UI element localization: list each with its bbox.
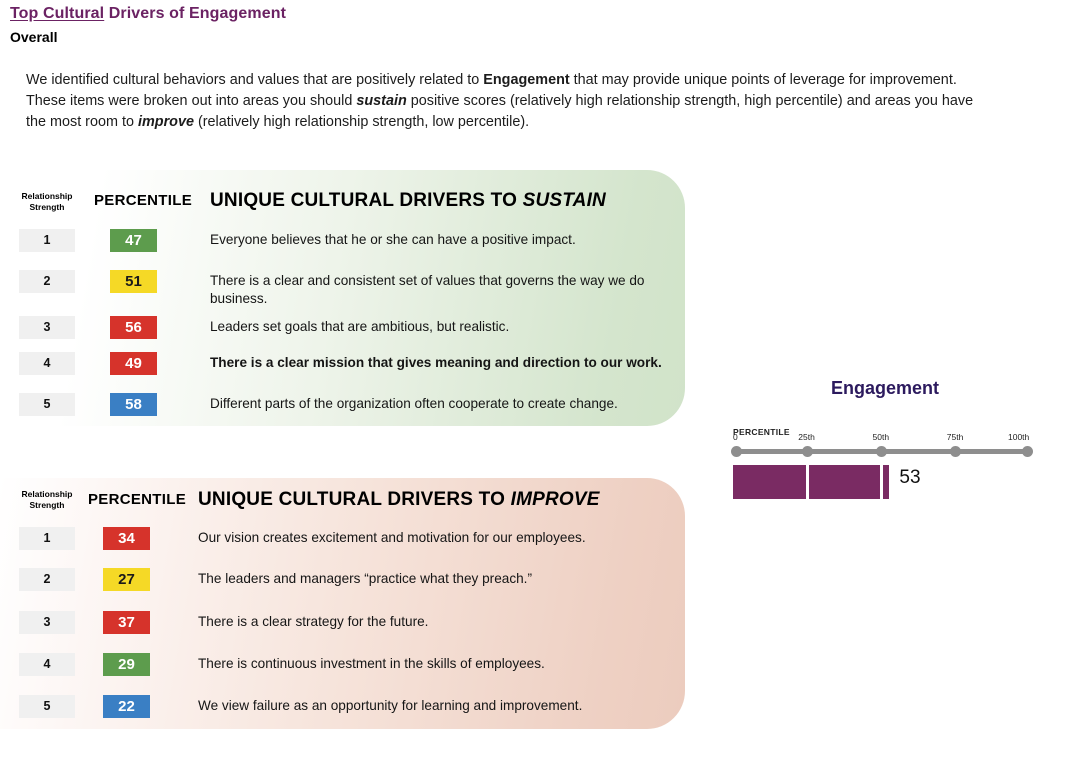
relationship-strength-rank: 2 — [19, 568, 75, 591]
driver-item-text: Everyone believes that he or she can hav… — [210, 231, 670, 249]
driver-item-text: There is a clear strategy for the future… — [198, 613, 658, 631]
page-title: Top Cultural Drivers of Engagement — [10, 5, 286, 23]
table-row: 449There is a clear mission that gives m… — [0, 352, 685, 376]
percentile-badge: 27 — [103, 568, 150, 591]
relationship-strength-rank: 1 — [19, 229, 75, 252]
page-title-rest: Drivers of Engagement — [104, 5, 286, 22]
relationship-strength-rank: 3 — [19, 316, 75, 339]
percentile-badge: 47 — [110, 229, 157, 252]
improve-column-header-relationship-strength: Relationship Strength — [5, 489, 89, 511]
gauge-bar-track — [733, 465, 1030, 499]
relationship-strength-rank: 1 — [19, 527, 75, 550]
percentile-badge: 22 — [103, 695, 150, 718]
intro-text-4: (relatively high relationship strength, … — [194, 114, 529, 130]
sustain-column-header-relationship-strength: Relationship Strength — [5, 191, 89, 213]
axis-tick-dot — [1022, 446, 1033, 457]
relationship-strength-rank: 2 — [19, 270, 75, 293]
table-row: 558Different parts of the organization o… — [0, 393, 685, 417]
gauge-bar-segment — [733, 465, 806, 499]
relationship-strength-rank: 4 — [19, 352, 75, 375]
driver-item-text: Different parts of the organization ofte… — [210, 395, 670, 413]
intro-text-1: We identified cultural behaviors and val… — [26, 72, 483, 88]
table-row: 522We view failure as an opportunity for… — [0, 695, 685, 719]
relationship-strength-rank: 4 — [19, 653, 75, 676]
driver-item-text: The leaders and managers “practice what … — [198, 570, 658, 588]
sustain-column-header-percentile: PERCENTILE — [94, 192, 192, 209]
axis-tick-dot — [802, 446, 813, 457]
table-row: 251There is a clear and consistent set o… — [0, 270, 685, 294]
rs-label-line2: Strength — [5, 202, 89, 213]
engagement-gauge: Engagement PERCENTILE 025th50th75th100th… — [725, 378, 1055, 498]
axis-tick-dot — [950, 446, 961, 457]
axis-tick-label: 25th — [798, 432, 815, 442]
table-row: 429There is continuous investment in the… — [0, 653, 685, 677]
intro-italic-improve: improve — [138, 114, 194, 130]
sustain-heading-prefix: UNIQUE CULTURAL DRIVERS TO — [210, 190, 523, 211]
page-title-underlined: Top Cultural — [10, 5, 104, 22]
axis-tick-label: 50th — [873, 432, 890, 442]
improve-heading-prefix: UNIQUE CULTURAL DRIVERS TO — [198, 489, 511, 510]
driver-item-text: Our vision creates excitement and motiva… — [198, 529, 658, 547]
percentile-badge: 56 — [110, 316, 157, 339]
percentile-badge: 34 — [103, 527, 150, 550]
driver-item-text: There is a clear and consistent set of v… — [210, 272, 670, 308]
table-row: 134Our vision creates excitement and mot… — [0, 527, 685, 551]
gauge-title: Engagement — [725, 378, 1045, 399]
improve-panel-heading: UNIQUE CULTURAL DRIVERS TO IMPROVE — [198, 489, 600, 511]
improve-panel — [0, 478, 685, 729]
sustain-heading-emphasis: SUSTAIN — [523, 190, 606, 211]
driver-item-text: There is a clear mission that gives mean… — [210, 354, 670, 372]
relationship-strength-rank: 5 — [19, 695, 75, 718]
intro-bold-engagement: Engagement — [483, 72, 569, 88]
table-row: 356Leaders set goals that are ambitious,… — [0, 316, 685, 340]
intro-italic-sustain: sustain — [356, 93, 406, 109]
improve-heading-emphasis: IMPROVE — [511, 489, 600, 510]
axis-tick-label: 75th — [947, 432, 964, 442]
percentile-badge: 49 — [110, 352, 157, 375]
percentile-badge: 29 — [103, 653, 150, 676]
gauge-percentile-label: PERCENTILE — [733, 427, 790, 437]
axis-tick-dot — [876, 446, 887, 457]
rs-label-line2-improve: Strength — [5, 500, 89, 511]
gauge-bar-segment — [809, 465, 880, 499]
axis-tick-dot — [731, 446, 742, 457]
relationship-strength-rank: 3 — [19, 611, 75, 634]
relationship-strength-rank: 5 — [19, 393, 75, 416]
gauge-value-label: 53 — [899, 467, 920, 489]
driver-item-text: Leaders set goals that are ambitious, bu… — [210, 318, 670, 336]
table-row: 227The leaders and managers “practice wh… — [0, 568, 685, 592]
percentile-badge: 37 — [103, 611, 150, 634]
improve-column-header-percentile: PERCENTILE — [88, 491, 186, 508]
percentile-badge: 51 — [110, 270, 157, 293]
intro-paragraph: We identified cultural behaviors and val… — [26, 70, 984, 133]
table-row: 337There is a clear strategy for the fut… — [0, 611, 685, 635]
driver-item-text: We view failure as an opportunity for le… — [198, 697, 658, 715]
axis-tick-label: 0 — [733, 432, 738, 442]
driver-item-text: There is continuous investment in the sk… — [198, 655, 658, 673]
rs-label-line1-improve: Relationship — [5, 489, 89, 500]
page-subtitle: Overall — [10, 29, 57, 45]
rs-label-line1: Relationship — [5, 191, 89, 202]
gauge-bar-segment — [883, 465, 889, 499]
percentile-badge: 58 — [110, 393, 157, 416]
axis-tick-label: 100th — [1008, 432, 1029, 442]
sustain-panel-heading: UNIQUE CULTURAL DRIVERS TO SUSTAIN — [210, 190, 606, 212]
table-row: 147Everyone believes that he or she can … — [0, 229, 685, 253]
